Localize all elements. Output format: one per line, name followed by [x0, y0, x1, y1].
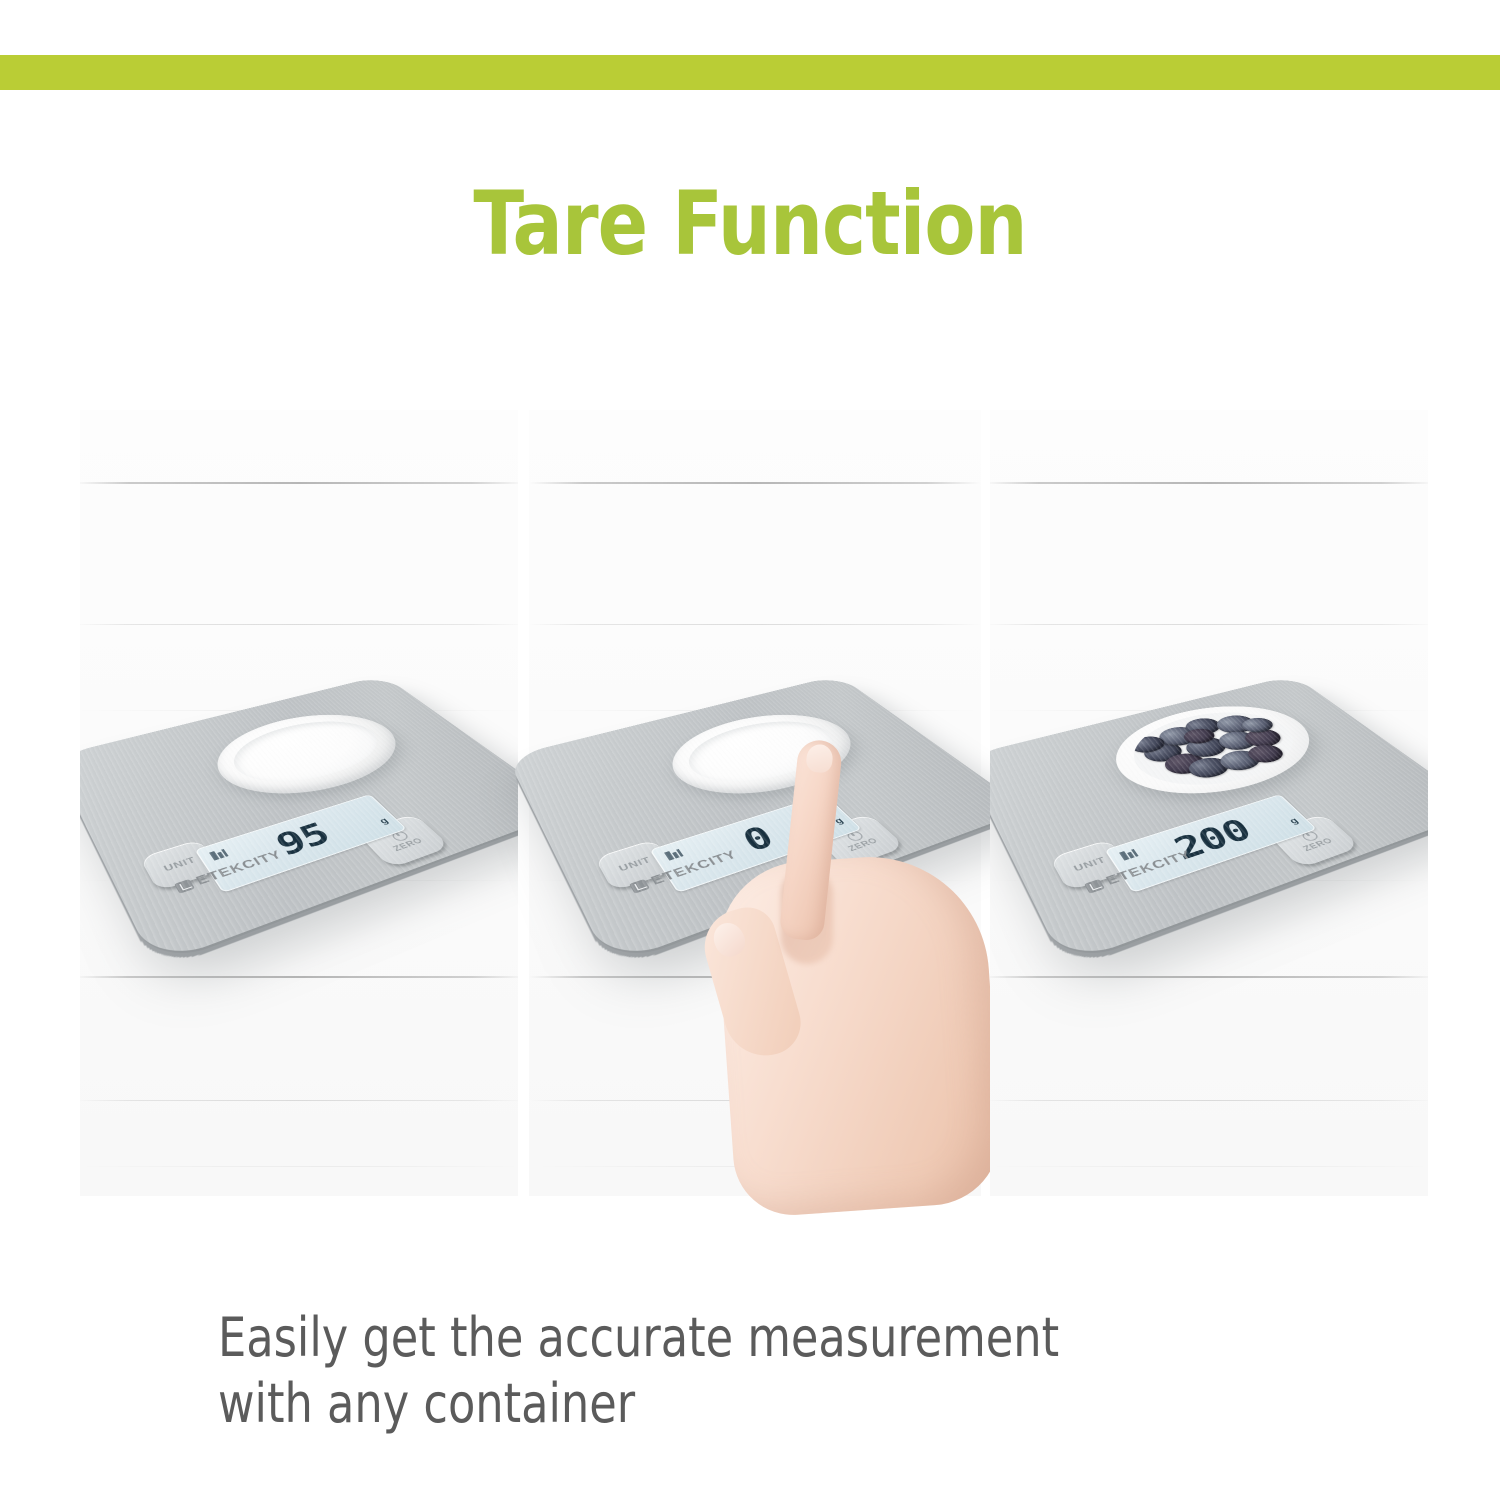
stability-indicator-icon: [664, 848, 684, 860]
etekcity-mark-icon: [629, 879, 650, 894]
top-accent-bar: [0, 55, 1500, 90]
etekcity-mark-icon: [1084, 879, 1105, 894]
scale-platform[interactable]: UNIT ZERO 0 g: [507, 675, 1028, 966]
lcd-unit-label: g: [377, 816, 390, 825]
etekcity-mark-icon: [174, 879, 195, 894]
kitchen-scale[interactable]: UNIT ZERO 95 g: [103, 624, 495, 954]
panel-scale-empty-plate: UNIT ZERO 95 g: [80, 410, 518, 1196]
panel-scale-blueberries: UNIT ZERO 200 g: [990, 410, 1428, 1196]
kitchen-scale[interactable]: UNIT ZERO 200 g: [1013, 624, 1405, 954]
stability-indicator-icon: [1119, 848, 1139, 860]
panel-scale-tared-zero: UNIT ZERO 0 g: [535, 410, 973, 1196]
page-title: Tare Function: [45, 178, 1455, 270]
lcd-weight-value: 0: [738, 823, 779, 857]
bowl-interior: [1113, 701, 1320, 802]
unit-button-label: UNIT: [162, 855, 198, 873]
bowl-of-blueberries: [1092, 693, 1343, 815]
unit-button-label: UNIT: [617, 855, 653, 873]
caption-line-1: Easily get the accurate measurement: [218, 1305, 1230, 1371]
kitchen-scale[interactable]: UNIT ZERO 0 g: [558, 624, 950, 954]
product-panel-strip: UNIT ZERO 95 g: [80, 410, 1428, 1196]
caption-line-2: with any container: [218, 1371, 1230, 1437]
scale-platform[interactable]: UNIT ZERO 95 g: [80, 675, 518, 966]
footer-caption: Easily get the accurate measurement with…: [218, 1305, 1230, 1437]
lcd-unit-label: g: [832, 816, 845, 825]
lcd-unit-label: g: [1287, 816, 1300, 825]
unit-button-label: UNIT: [1072, 855, 1108, 873]
white-plate: [195, 702, 425, 812]
scale-platform[interactable]: UNIT ZERO 200 g: [990, 675, 1428, 966]
white-plate: [650, 702, 880, 812]
stability-indicator-icon: [209, 848, 229, 860]
